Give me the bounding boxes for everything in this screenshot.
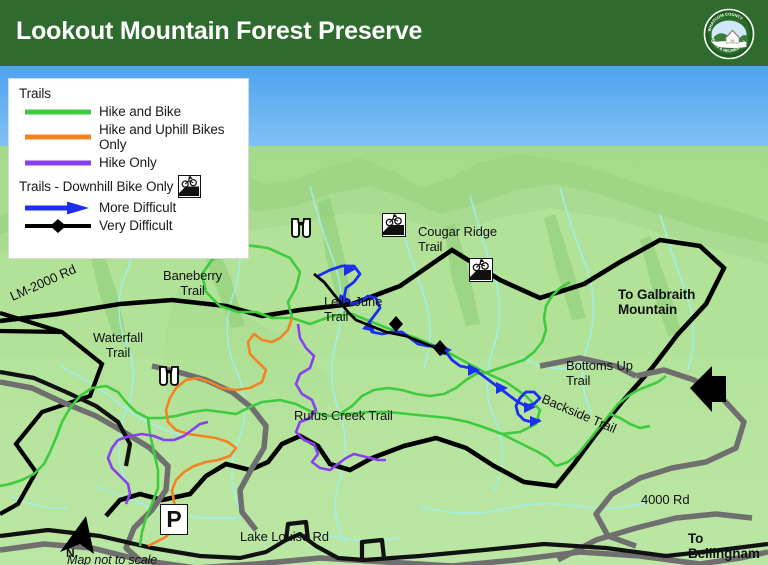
label-lake-louise-rd: Lake Louise Rd — [240, 530, 329, 545]
legend-item-hike-and-uphill-bikes-only: Hike and Uphill Bikes Only — [19, 121, 240, 153]
legend-label-hike-and-bike: Hike and Bike — [99, 104, 181, 119]
binoculars-icon[interactable] — [156, 365, 182, 387]
label-north: N — [66, 546, 75, 561]
label-map-not-to-scale: Map not to scale — [67, 553, 157, 565]
map-page: Lookout Mountain Forest Preserve WHATCOM… — [0, 0, 768, 565]
page-title: Lookout Mountain Forest Preserve — [16, 17, 422, 46]
label-to-bellingham: To Bellingham — [688, 532, 768, 561]
binoculars-icon[interactable] — [288, 217, 314, 239]
legend-swatch-black-diamond — [25, 217, 91, 234]
label-baneberry-trail: Baneberry Trail — [163, 269, 222, 298]
page-header: Lookout Mountain Forest Preserve WHATCOM… — [0, 0, 768, 66]
legend-item-hike-only: Hike Only — [19, 154, 240, 171]
label-waterfall-trail: Waterfall Trail — [93, 331, 143, 360]
legend-swatch-orange — [25, 129, 91, 146]
label-bottoms-up-trail: Bottoms Up Trail — [566, 359, 633, 388]
parking-icon[interactable]: P — [160, 504, 188, 535]
label-cougar-ridge-trail: Cougar Ridge Trail — [418, 225, 497, 254]
legend-label-very-difficult: Very Difficult — [99, 218, 172, 233]
legend-downhill-section-header: Trails - Downhill Bike Only — [19, 175, 240, 198]
downhill-bike-icon — [178, 175, 201, 198]
legend-label-hike-only: Hike Only — [99, 155, 157, 170]
legend-title: Trails — [19, 86, 240, 101]
legend-label-hike-and-uphill-bikes-only: Hike and Uphill Bikes Only — [99, 122, 240, 152]
legend-item-very-difficult: Very Difficult — [19, 217, 240, 234]
downhill-bike-icon[interactable] — [469, 258, 493, 282]
legend-swatch-blue-arrow — [25, 199, 91, 216]
whatcom-county-parks-logo: WHATCOM COUNTY PARKS & RECREATION — [703, 8, 755, 60]
downhill-bike-icon[interactable] — [382, 213, 406, 237]
label-leila-june-trail: Leila June Trail — [324, 295, 382, 324]
legend-label-more-difficult: More Difficult — [99, 200, 176, 215]
legend-item-hike-and-bike: Hike and Bike — [19, 103, 240, 120]
legend-downhill-title: Trails - Downhill Bike Only — [19, 179, 173, 194]
label-rufus-creek-trail: Rufus Creek Trail — [294, 409, 393, 424]
label-to-galbraith-mountain: To Galbraith Mountain — [618, 288, 695, 317]
label-4000-rd: 4000 Rd — [641, 493, 689, 508]
legend-item-more-difficult: More Difficult — [19, 199, 240, 216]
legend-swatch-green — [25, 103, 91, 120]
legend-swatch-purple — [25, 154, 91, 171]
map-legend: Trails Hike and Bike Hike and Uphill Bik… — [8, 78, 249, 259]
